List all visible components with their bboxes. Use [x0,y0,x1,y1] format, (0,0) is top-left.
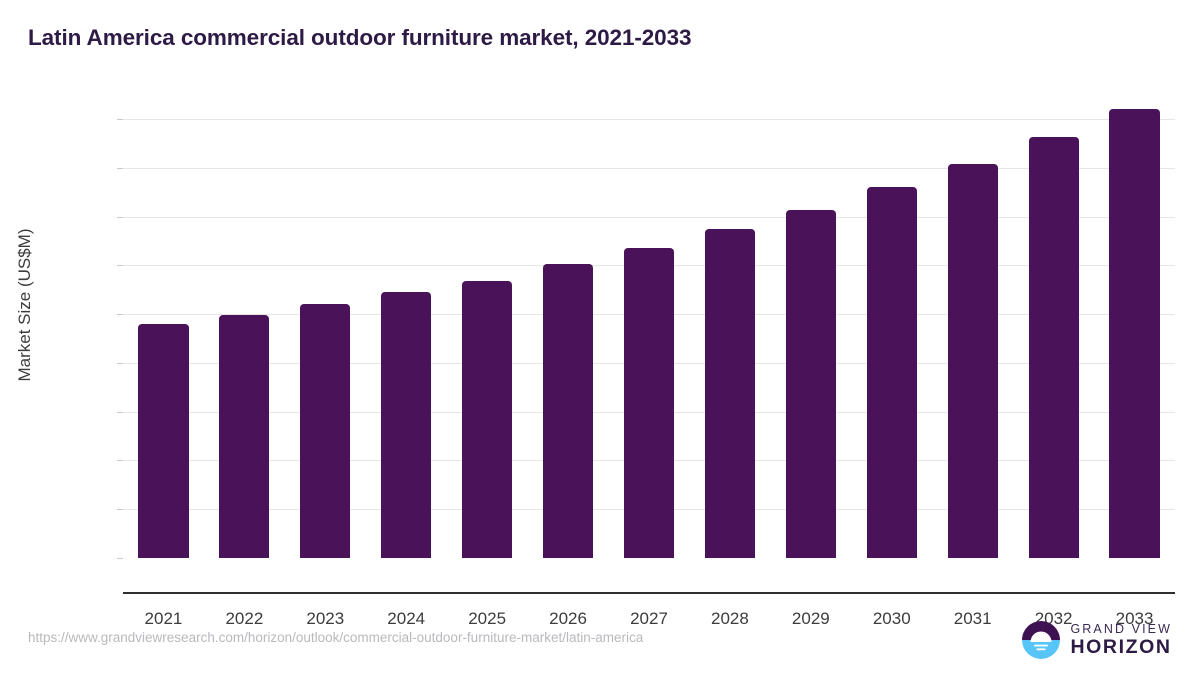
logo-line-1: GRAND VIEW [1070,623,1172,636]
x-axis-tick-label: 2031 [954,609,992,629]
x-axis-tick-label: 2029 [792,609,830,629]
bar-2032[interactable] [1029,137,1079,558]
bar-2030[interactable] [867,187,917,558]
bar-2023[interactable] [300,304,350,558]
x-axis-tick-label: 2028 [711,609,749,629]
bar-2021[interactable] [138,324,188,558]
x-axis-tick-label: 2030 [873,609,911,629]
bar-2028[interactable] [705,229,755,558]
bar-2027[interactable] [624,248,674,558]
y-axis-tick-mark [117,558,123,559]
bar-2022[interactable] [219,315,269,558]
logo-line-2: HORIZON [1070,638,1172,658]
bar-2025[interactable] [462,281,512,558]
bars-group [123,119,1175,558]
bar-2026[interactable] [543,264,593,558]
x-axis-tick-label: 2022 [225,609,263,629]
bar-2033[interactable] [1109,109,1159,558]
bar-2031[interactable] [948,164,998,558]
brand-logo[interactable]: GRAND VIEW HORIZON [1021,620,1172,660]
chart-page: Latin America commercial outdoor furnitu… [0,0,1200,675]
bar-2029[interactable] [786,210,836,558]
bar-2024[interactable] [381,292,431,558]
x-axis-tick-label: 2024 [387,609,425,629]
x-axis-tick-label: 2026 [549,609,587,629]
y-axis-title: Market Size (US$M) [15,225,35,385]
plot-area: 0250500750100012501500175020002250 20212… [123,119,1175,558]
x-axis-line [123,592,1175,594]
page-title: Latin America commercial outdoor furnitu… [28,25,691,51]
x-axis-tick-label: 2021 [145,609,183,629]
source-url[interactable]: https://www.grandviewresearch.com/horizo… [28,630,643,645]
logo-wordmark: GRAND VIEW HORIZON [1070,623,1172,658]
x-axis-tick-label: 2027 [630,609,668,629]
x-axis-tick-label: 2025 [468,609,506,629]
horizon-circle-icon [1021,620,1061,660]
chart-canvas: Market Size (US$M) 025050075010001250150… [0,85,1200,595]
x-axis-tick-label: 2023 [306,609,344,629]
